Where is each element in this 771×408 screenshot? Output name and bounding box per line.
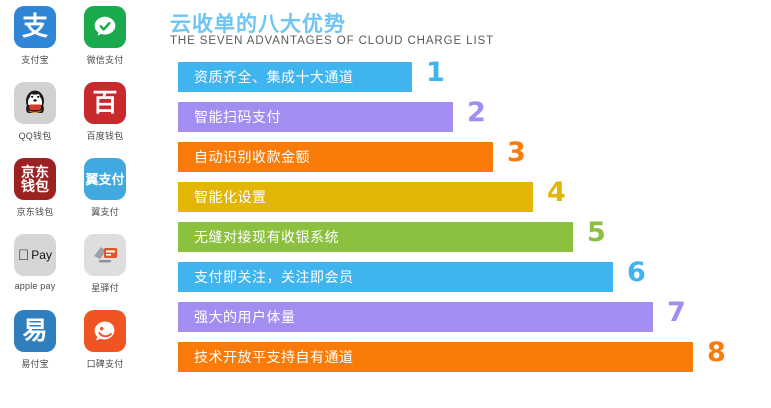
advantages-bar-chart: 资质齐全、集成十大通道1智能扫码支付2自动识别收款金额3智能化设置4无缝对接现有… (140, 62, 771, 382)
alipay-icon: 支 (14, 6, 56, 48)
logo-label: 口碑支付 (87, 357, 124, 370)
advantage-rank-number: 4 (547, 178, 566, 208)
advantage-bar[interactable]: 强大的用户体量 (178, 302, 653, 332)
logo-item-qq-wallet[interactable]: QQ钱包 (0, 82, 70, 158)
baidu-glyph: 百 (92, 91, 117, 116)
qq-wallet-icon (14, 82, 56, 124)
payment-logo-grid: 支 支付宝 微信支付 (0, 0, 140, 408)
koubei-pay-icon (84, 310, 126, 352)
jd-glyph: 京东钱包 (20, 165, 50, 193)
page-subtitle: THE SEVEN ADVANTAGES OF CLOUD CHARGE LIS… (170, 35, 494, 47)
baidu-wallet-icon: 百 (84, 82, 126, 124)
advantage-rank-number: 8 (707, 338, 726, 368)
logo-item-apple-pay[interactable]: Pay apple pay (0, 234, 70, 310)
logo-item-jd-wallet[interactable]: 京东钱包 京东钱包 (0, 158, 70, 234)
logo-item-yifubao[interactable]: 易 易付宝 (0, 310, 70, 386)
advantage-rank-number: 1 (426, 58, 445, 88)
advantage-label: 智能化设置 (178, 187, 267, 207)
logo-item-xingyifu[interactable]: 星驿付 (70, 234, 140, 310)
page-title: 云收单的八大优势 (170, 8, 346, 38)
advantage-rank-number: 5 (587, 218, 606, 248)
logo-item-wechat-pay[interactable]: 微信支付 (70, 6, 140, 82)
bar-row: 无缝对接现有收银系统5 (140, 222, 771, 262)
infographic-content: 云收单的八大优势 THE SEVEN ADVANTAGES OF CLOUD C… (140, 0, 771, 408)
advantage-rank-number: 7 (667, 298, 686, 328)
bar-row: 智能化设置4 (140, 182, 771, 222)
advantage-bar[interactable]: 无缝对接现有收银系统 (178, 222, 573, 252)
xingyifu-icon (84, 234, 126, 276)
apple-pay-text: Pay (31, 249, 52, 261)
advantage-label: 无缝对接现有收银系统 (178, 227, 339, 247)
logo-item-alipay[interactable]: 支 支付宝 (0, 6, 70, 82)
advantage-label: 自动识别收款金额 (178, 147, 310, 167)
advantage-label: 支付即关注，关注即会员 (178, 267, 354, 287)
advantage-bar[interactable]: 智能扫码支付 (178, 102, 453, 132)
logo-label: 星驿付 (91, 281, 119, 294)
wechat-pay-icon (84, 6, 126, 48)
advantage-bar[interactable]: 资质齐全、集成十大通道 (178, 62, 412, 92)
advantage-bar[interactable]: 自动识别收款金额 (178, 142, 493, 172)
logo-label: 支付宝 (21, 53, 49, 66)
advantage-bar[interactable]: 技术开放平支持自有通道 (178, 342, 693, 372)
yi-pay-glyph: 翼支付 (85, 173, 124, 186)
bar-row: 支付即关注，关注即会员6 (140, 262, 771, 302)
bar-row: 智能扫码支付2 (140, 102, 771, 142)
advantage-rank-number: 2 (467, 98, 486, 128)
logo-label: 易付宝 (21, 357, 49, 370)
bar-row: 资质齐全、集成十大通道1 (140, 62, 771, 102)
apple-pay-icon: Pay (14, 234, 56, 276)
logo-label: 微信支付 (87, 53, 124, 66)
infographic-root: 支 支付宝 微信支付 (0, 0, 771, 408)
logo-item-koubei-pay[interactable]: 口碑支付 (70, 310, 140, 386)
bar-row: 自动识别收款金额3 (140, 142, 771, 182)
logo-label: 百度钱包 (87, 129, 124, 142)
logo-label: 京东钱包 (17, 205, 54, 218)
bar-row: 强大的用户体量7 (140, 302, 771, 342)
jd-wallet-icon: 京东钱包 (14, 158, 56, 200)
advantage-label: 技术开放平支持自有通道 (178, 347, 354, 367)
bar-row: 技术开放平支持自有通道8 (140, 342, 771, 382)
yifubao-glyph: 易 (22, 319, 47, 344)
apple-logo-glyph:  (18, 248, 29, 263)
logo-label: apple pay (15, 281, 56, 291)
advantage-bar[interactable]: 支付即关注，关注即会员 (178, 262, 613, 292)
yifubao-icon: 易 (14, 310, 56, 352)
advantage-rank-number: 3 (507, 138, 526, 168)
logo-label: 翼支付 (91, 205, 119, 218)
logo-label: QQ钱包 (19, 129, 52, 142)
advantage-rank-number: 6 (627, 258, 646, 288)
advantage-label: 资质齐全、集成十大通道 (178, 67, 354, 87)
advantage-bar[interactable]: 智能化设置 (178, 182, 533, 212)
alipay-glyph: 支 (22, 14, 48, 40)
advantage-label: 智能扫码支付 (178, 107, 281, 127)
logo-item-yi-pay[interactable]: 翼支付 翼支付 (70, 158, 140, 234)
yi-pay-icon: 翼支付 (84, 158, 126, 200)
logo-item-baidu-wallet[interactable]: 百 百度钱包 (70, 82, 140, 158)
advantage-label: 强大的用户体量 (178, 307, 296, 327)
